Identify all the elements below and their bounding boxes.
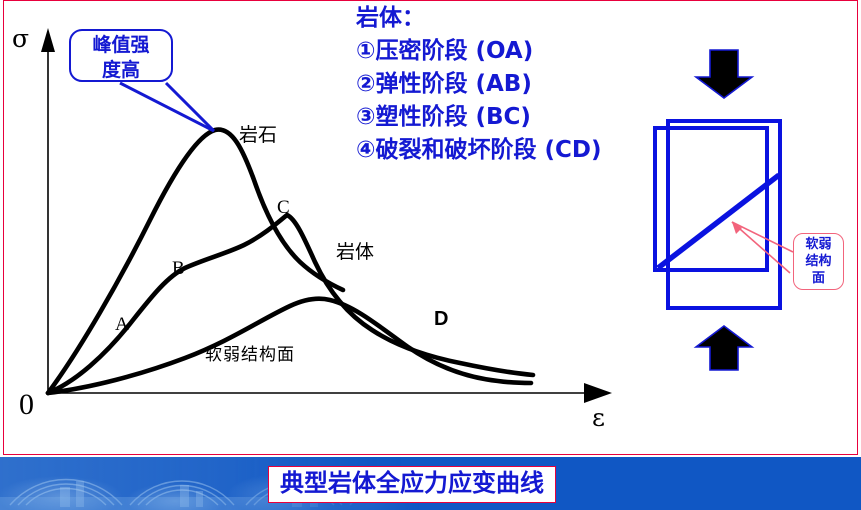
weak-callout-line-3: 面 [794, 270, 843, 287]
peak-strength-callout: 峰值强 度高 [69, 29, 173, 82]
weak-plane-callout: 软弱 结构 面 [793, 233, 844, 290]
down-arrow-icon [696, 50, 752, 98]
point-label-d: D [434, 308, 448, 331]
stage-list-item-2: ②弹性阶段 (AB) [356, 68, 656, 101]
bottom-banner: 典型岩体全应力应变曲线 [0, 457, 861, 510]
peak-callout-leader [120, 83, 214, 131]
stage-list-heading: 岩体： [356, 2, 656, 35]
up-arrow-icon [696, 326, 752, 370]
weak-structural-plane [658, 175, 779, 268]
y-axis-label: σ [12, 24, 29, 53]
weak-callout-line-1: 软弱 [794, 236, 843, 253]
stage-list-item-1: ①压密阶段 (OA) [356, 35, 656, 68]
stage-list: 岩体： ①压密阶段 (OA) ②弹性阶段 (AB) ③塑性阶段 (BC) ④破裂… [356, 2, 656, 167]
stage-list-item-4: ④破裂和破坏阶段 (CD) [356, 134, 656, 167]
peak-callout-line-2: 度高 [71, 58, 171, 83]
weak-plane-callout-leader [732, 222, 793, 273]
stage-list-item-3: ③塑性阶段 (BC) [356, 101, 656, 134]
specimen-diagram [655, 50, 793, 370]
series-label-rock-mass: 岩体 [336, 237, 374, 264]
x-axis-arrowhead [584, 383, 612, 403]
point-label-a: A [115, 314, 129, 336]
series-label-weak-plane: 软弱结构面 [205, 340, 295, 365]
y-axis-arrowhead [41, 28, 55, 52]
slide: σ ε 0 A B C D 岩石 岩体 软弱结构面 峰值强 度高 软弱 结构 面… [0, 0, 861, 510]
point-label-c: C [277, 197, 290, 219]
banner-title: 典型岩体全应力应变曲线 [268, 466, 556, 503]
weak-callout-line-2: 结构 [794, 253, 843, 270]
peak-callout-line-1: 峰值强 [71, 33, 171, 58]
series-label-intact-rock: 岩石 [239, 120, 277, 147]
x-axis-label: ε [592, 403, 605, 432]
origin-label: 0 [19, 388, 34, 422]
point-label-b: B [172, 258, 185, 280]
